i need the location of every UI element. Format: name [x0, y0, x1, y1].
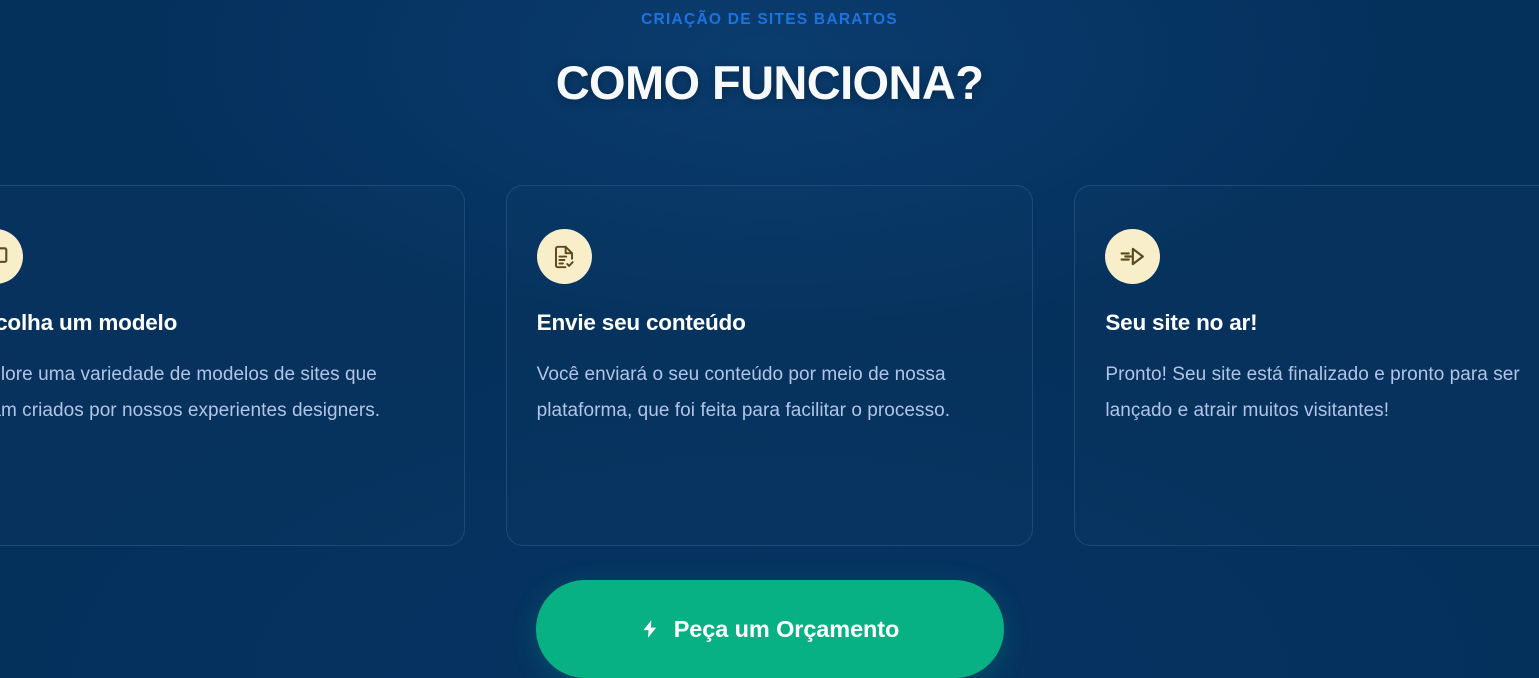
- step-card-title: Escolha um modelo: [0, 310, 434, 336]
- how-it-works-section: CRIAÇÃO DE SITES BARATOS COMO FUNCIONA? …: [0, 0, 1539, 678]
- lightning-bolt-icon: [640, 619, 660, 639]
- request-quote-label: Peça um Orçamento: [674, 616, 900, 643]
- section-eyebrow: CRIAÇÃO DE SITES BARATOS: [0, 11, 1539, 29]
- page-title: COMO FUNCIONA?: [0, 56, 1539, 110]
- steps-card-list: Escolha um modelo Explore uma variedade …: [0, 185, 1539, 546]
- request-quote-button[interactable]: Peça um Orçamento: [536, 580, 1004, 678]
- step-card-title: Envie seu conteúdo: [537, 310, 1003, 336]
- step-card-body: Pronto! Seu site está finalizado e pront…: [1105, 357, 1525, 428]
- step-card-body: Você enviará o seu conteúdo por meio de …: [537, 357, 957, 428]
- step-card-body: Explore uma variedade de modelos de site…: [0, 357, 388, 428]
- step-card-site-live: Seu site no ar! Pronto! Seu site está fi…: [1074, 185, 1539, 546]
- step-card-send-content: Envie seu conteúdo Você enviará o seu co…: [506, 185, 1034, 546]
- step-card-title: Seu site no ar!: [1105, 310, 1539, 336]
- document-check-icon: [537, 229, 592, 284]
- monitor-icon: [0, 229, 23, 284]
- step-card-choose-template: Escolha um modelo Explore uma variedade …: [0, 185, 465, 546]
- launch-send-icon: [1105, 229, 1160, 284]
- cta-container: Peça um Orçamento: [0, 580, 1539, 678]
